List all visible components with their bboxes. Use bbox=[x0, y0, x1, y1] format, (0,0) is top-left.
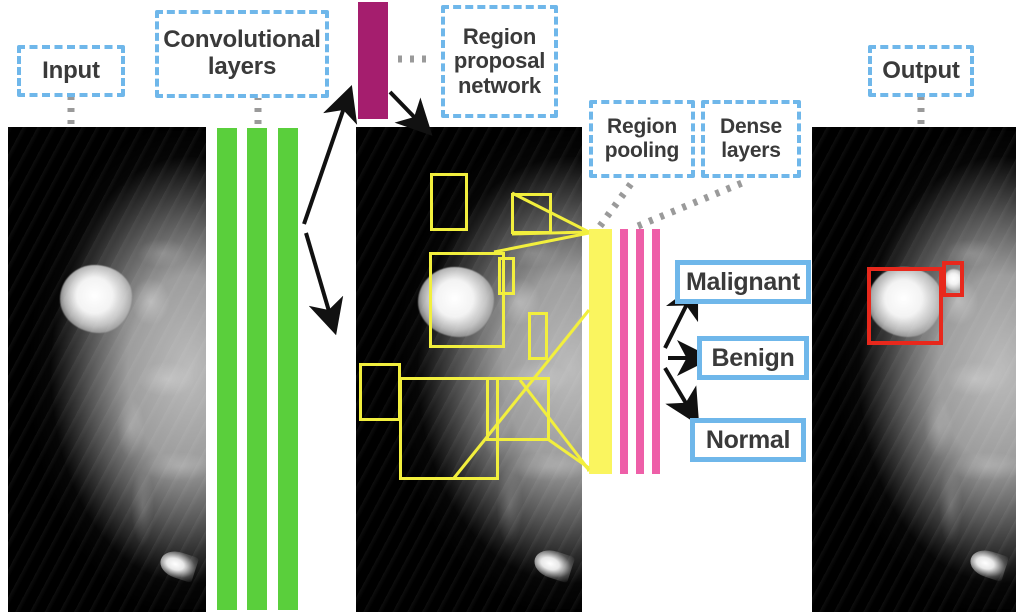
callout-pooling-line-1: Region bbox=[605, 115, 679, 139]
callout-convolutional-layers[interactable]: Convolutional layers bbox=[155, 10, 329, 98]
callout-input[interactable]: Input bbox=[17, 45, 125, 97]
callout-output[interactable]: Output bbox=[868, 45, 974, 97]
callout-region-proposal-network[interactable]: Region proposal network bbox=[441, 5, 558, 118]
proposal-box bbox=[498, 257, 515, 295]
detection-box bbox=[942, 261, 964, 297]
callout-dense-line-2: layers bbox=[720, 139, 782, 163]
arrow-dense-to-normal bbox=[665, 368, 690, 410]
callout-rpn-line-1: Region bbox=[454, 25, 545, 50]
proposal-box bbox=[486, 377, 550, 441]
proposal-box bbox=[399, 377, 499, 480]
dense-layer-bar-1 bbox=[620, 229, 628, 474]
arrow-conv-to-rpn bbox=[304, 102, 346, 224]
conv-layer-bar-1 bbox=[217, 128, 237, 610]
class-label-benign: Benign bbox=[712, 344, 795, 373]
callout-region-pooling[interactable]: Region pooling bbox=[589, 100, 695, 178]
fibroglandular-texture bbox=[812, 127, 1016, 612]
fibroglandular-texture bbox=[8, 127, 206, 612]
arrow-conv-to-featuremap bbox=[306, 233, 331, 318]
class-box-malignant[interactable]: Malignant bbox=[675, 260, 811, 304]
figure-canvas: Input Convolutional layers Region propos… bbox=[0, 0, 1024, 612]
region-proposal-network-bar bbox=[358, 2, 388, 119]
region-pooling-bar bbox=[589, 229, 612, 474]
callout-pooling-line-2: pooling bbox=[605, 139, 679, 163]
callout-conv-line-2: layers bbox=[163, 54, 320, 81]
proposal-box bbox=[511, 193, 552, 234]
detection-box bbox=[867, 267, 943, 345]
dense-layer-bar-2 bbox=[636, 229, 644, 474]
arrow-rpn-to-proposals bbox=[390, 92, 420, 123]
dense-layer-bar-3 bbox=[652, 229, 660, 474]
leader-pooling bbox=[600, 181, 633, 226]
conv-layer-bar-3 bbox=[278, 128, 298, 610]
callout-dense-line-1: Dense bbox=[720, 115, 782, 139]
proposal-box bbox=[359, 363, 401, 421]
lesion-mass bbox=[60, 265, 132, 333]
callout-dense-layers[interactable]: Dense layers bbox=[701, 100, 801, 178]
class-label-normal: Normal bbox=[706, 426, 790, 455]
output-mammogram-panel bbox=[812, 127, 1016, 612]
class-box-normal[interactable]: Normal bbox=[690, 418, 806, 462]
leader-dense bbox=[638, 183, 742, 226]
callout-output-line-1: Output bbox=[882, 58, 959, 85]
proposal-box bbox=[430, 173, 468, 231]
class-box-benign[interactable]: Benign bbox=[697, 336, 809, 380]
proposal-box bbox=[528, 312, 548, 360]
input-mammogram-panel bbox=[8, 127, 206, 612]
callout-rpn-line-2: proposal bbox=[454, 49, 545, 74]
proposal-box bbox=[429, 252, 505, 348]
callout-input-line-1: Input bbox=[42, 58, 100, 85]
conv-layer-bar-2 bbox=[247, 128, 267, 610]
proposals-mammogram-panel bbox=[356, 127, 582, 612]
class-label-malignant: Malignant bbox=[686, 268, 800, 297]
callout-conv-line-1: Convolutional bbox=[163, 27, 320, 54]
callout-rpn-line-3: network bbox=[454, 74, 545, 99]
arrow-dense-to-malignant bbox=[665, 298, 690, 348]
